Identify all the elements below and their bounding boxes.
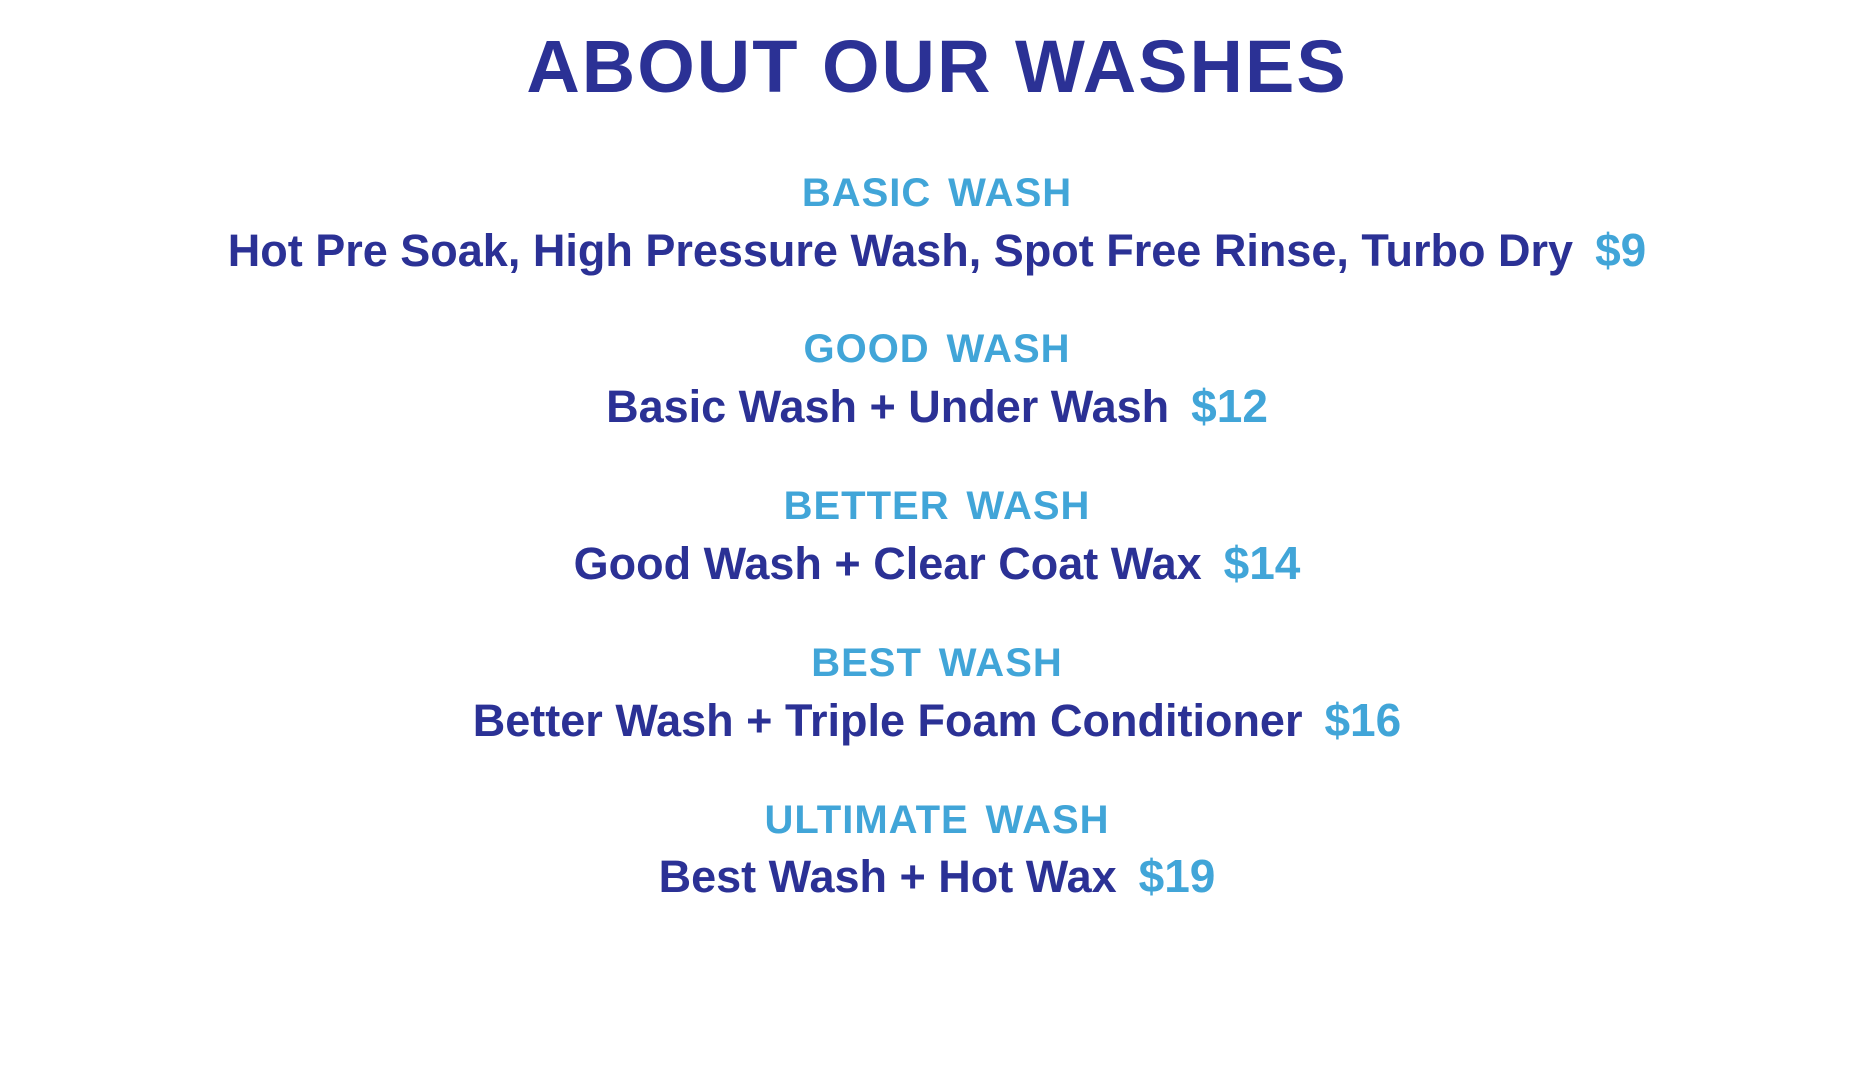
wash-price-best: $16 bbox=[1324, 694, 1401, 747]
wash-price-ultimate: $19 bbox=[1139, 850, 1216, 903]
wash-detail-line-best: Better Wash + Triple Foam Conditioner $1… bbox=[473, 694, 1401, 747]
wash-item-good: Good Wash Basic Wash + Under Wash $12 bbox=[0, 312, 1874, 433]
about-our-washes-panel: ABOUT OUR WASHES Basic Wash Hot Pre Soak… bbox=[0, 0, 1874, 1092]
page-title: ABOUT OUR WASHES bbox=[526, 28, 1347, 106]
wash-detail-line-good: Basic Wash + Under Wash $12 bbox=[606, 380, 1268, 433]
wash-detail-line-ultimate: Best Wash + Hot Wax $19 bbox=[659, 850, 1216, 903]
wash-description-better: Good Wash + Clear Coat Wax bbox=[574, 538, 1202, 590]
wash-name-basic: Basic Wash bbox=[802, 156, 1072, 220]
wash-list: Basic Wash Hot Pre Soak, High Pressure W… bbox=[0, 156, 1874, 904]
wash-detail-line-better: Good Wash + Clear Coat Wax $14 bbox=[574, 537, 1301, 590]
wash-name-good: Good Wash bbox=[803, 312, 1070, 376]
wash-name-best: Best Wash bbox=[811, 626, 1063, 690]
wash-item-basic: Basic Wash Hot Pre Soak, High Pressure W… bbox=[0, 156, 1874, 277]
wash-name-ultimate: Ultimate Wash bbox=[764, 783, 1109, 847]
wash-item-best: Best Wash Better Wash + Triple Foam Cond… bbox=[0, 626, 1874, 747]
wash-description-best: Better Wash + Triple Foam Conditioner bbox=[473, 695, 1303, 747]
wash-description-good: Basic Wash + Under Wash bbox=[606, 381, 1169, 433]
wash-description-ultimate: Best Wash + Hot Wax bbox=[659, 851, 1117, 903]
wash-price-basic: $9 bbox=[1595, 224, 1646, 277]
wash-description-basic: Hot Pre Soak, High Pressure Wash, Spot F… bbox=[228, 225, 1573, 277]
wash-item-ultimate: Ultimate Wash Best Wash + Hot Wax $19 bbox=[0, 783, 1874, 904]
wash-name-better: Better Wash bbox=[784, 469, 1091, 533]
wash-price-good: $12 bbox=[1191, 380, 1268, 433]
wash-item-better: Better Wash Good Wash + Clear Coat Wax $… bbox=[0, 469, 1874, 590]
wash-detail-line-basic: Hot Pre Soak, High Pressure Wash, Spot F… bbox=[228, 224, 1646, 277]
wash-price-better: $14 bbox=[1224, 537, 1301, 590]
